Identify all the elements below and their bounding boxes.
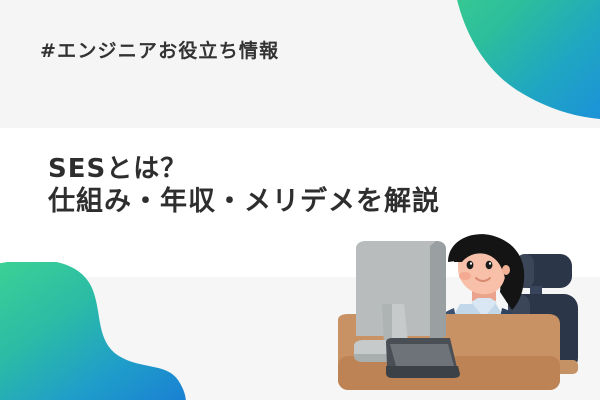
left-eye — [467, 261, 474, 269]
banner-canvas: #エンジニアお役立ち情報 SESとは？ 仕組み・年収・メリデメを解説 — [0, 0, 600, 400]
keyboard — [386, 338, 460, 378]
woman-typing-at-desk-illustration — [330, 232, 600, 400]
keyboard-keys-area — [390, 344, 454, 366]
right-eye — [486, 261, 493, 269]
title-line-1: SESとは？ — [48, 154, 440, 186]
title-line-2: 仕組み・年収・メリデメを解説 — [48, 186, 440, 219]
keyboard-front-edge — [386, 366, 460, 378]
hashtag-label: #エンジニアお役立ち情報 — [40, 36, 279, 63]
ear — [502, 265, 510, 275]
cheek-blush — [459, 272, 471, 280]
monitor-side-panel — [430, 241, 446, 344]
top-blob-clip — [0, 0, 600, 128]
right-eye-glint — [489, 262, 491, 265]
top-right-gradient-blob — [0, 0, 600, 128]
page-title: SESとは？ 仕組み・年収・メリデメを解説 — [48, 154, 440, 219]
left-eye-glint — [470, 262, 472, 265]
